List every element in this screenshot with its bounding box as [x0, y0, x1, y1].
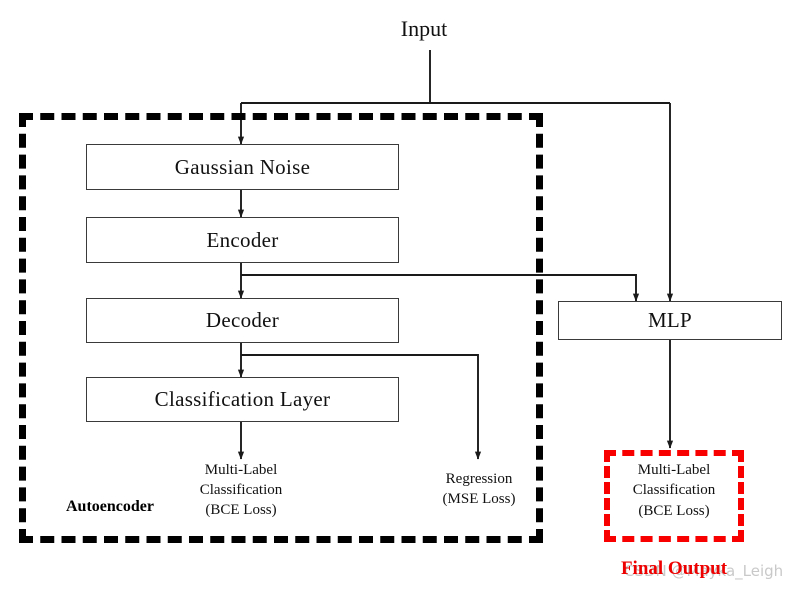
node-decoder[interactable]: Decoder: [86, 298, 399, 343]
diagram-canvas: Autoencoder Input Gaussian Noise Encoder…: [0, 0, 792, 595]
node-mlp[interactable]: MLP: [558, 301, 782, 340]
node-encoder-label: Encoder: [206, 228, 278, 253]
output-autoencoder-multilabel: Multi-Label Classification (BCE Loss): [166, 461, 316, 521]
output-autoencoder-multilabel-line3: (BCE Loss): [166, 501, 316, 521]
node-gaussian-noise-label: Gaussian Noise: [175, 155, 310, 180]
output-mlp-multilabel-line3: (BCE Loss): [604, 501, 744, 521]
output-mlp-multilabel-line1: Multi-Label: [604, 460, 744, 480]
output-regression-line1: Regression: [412, 470, 546, 490]
output-regression-line2: (MSE Loss): [412, 490, 546, 510]
node-mlp-label: MLP: [648, 308, 692, 333]
final-output-label: Final Output: [594, 558, 754, 580]
input-label: Input: [366, 16, 482, 42]
node-decoder-label: Decoder: [206, 308, 279, 333]
autoencoder-group-label: Autoencoder: [40, 498, 180, 516]
output-mlp-multilabel: Multi-Label Classification (BCE Loss): [604, 460, 744, 521]
output-autoencoder-multilabel-line1: Multi-Label: [166, 461, 316, 481]
node-classification-layer-label: Classification Layer: [155, 387, 331, 412]
output-autoencoder-multilabel-line2: Classification: [166, 481, 316, 501]
node-gaussian-noise[interactable]: Gaussian Noise: [86, 144, 399, 190]
output-mlp-multilabel-line2: Classification: [604, 480, 744, 500]
node-classification-layer[interactable]: Classification Layer: [86, 377, 399, 422]
node-encoder[interactable]: Encoder: [86, 217, 399, 263]
output-regression: Regression (MSE Loss): [412, 470, 546, 510]
